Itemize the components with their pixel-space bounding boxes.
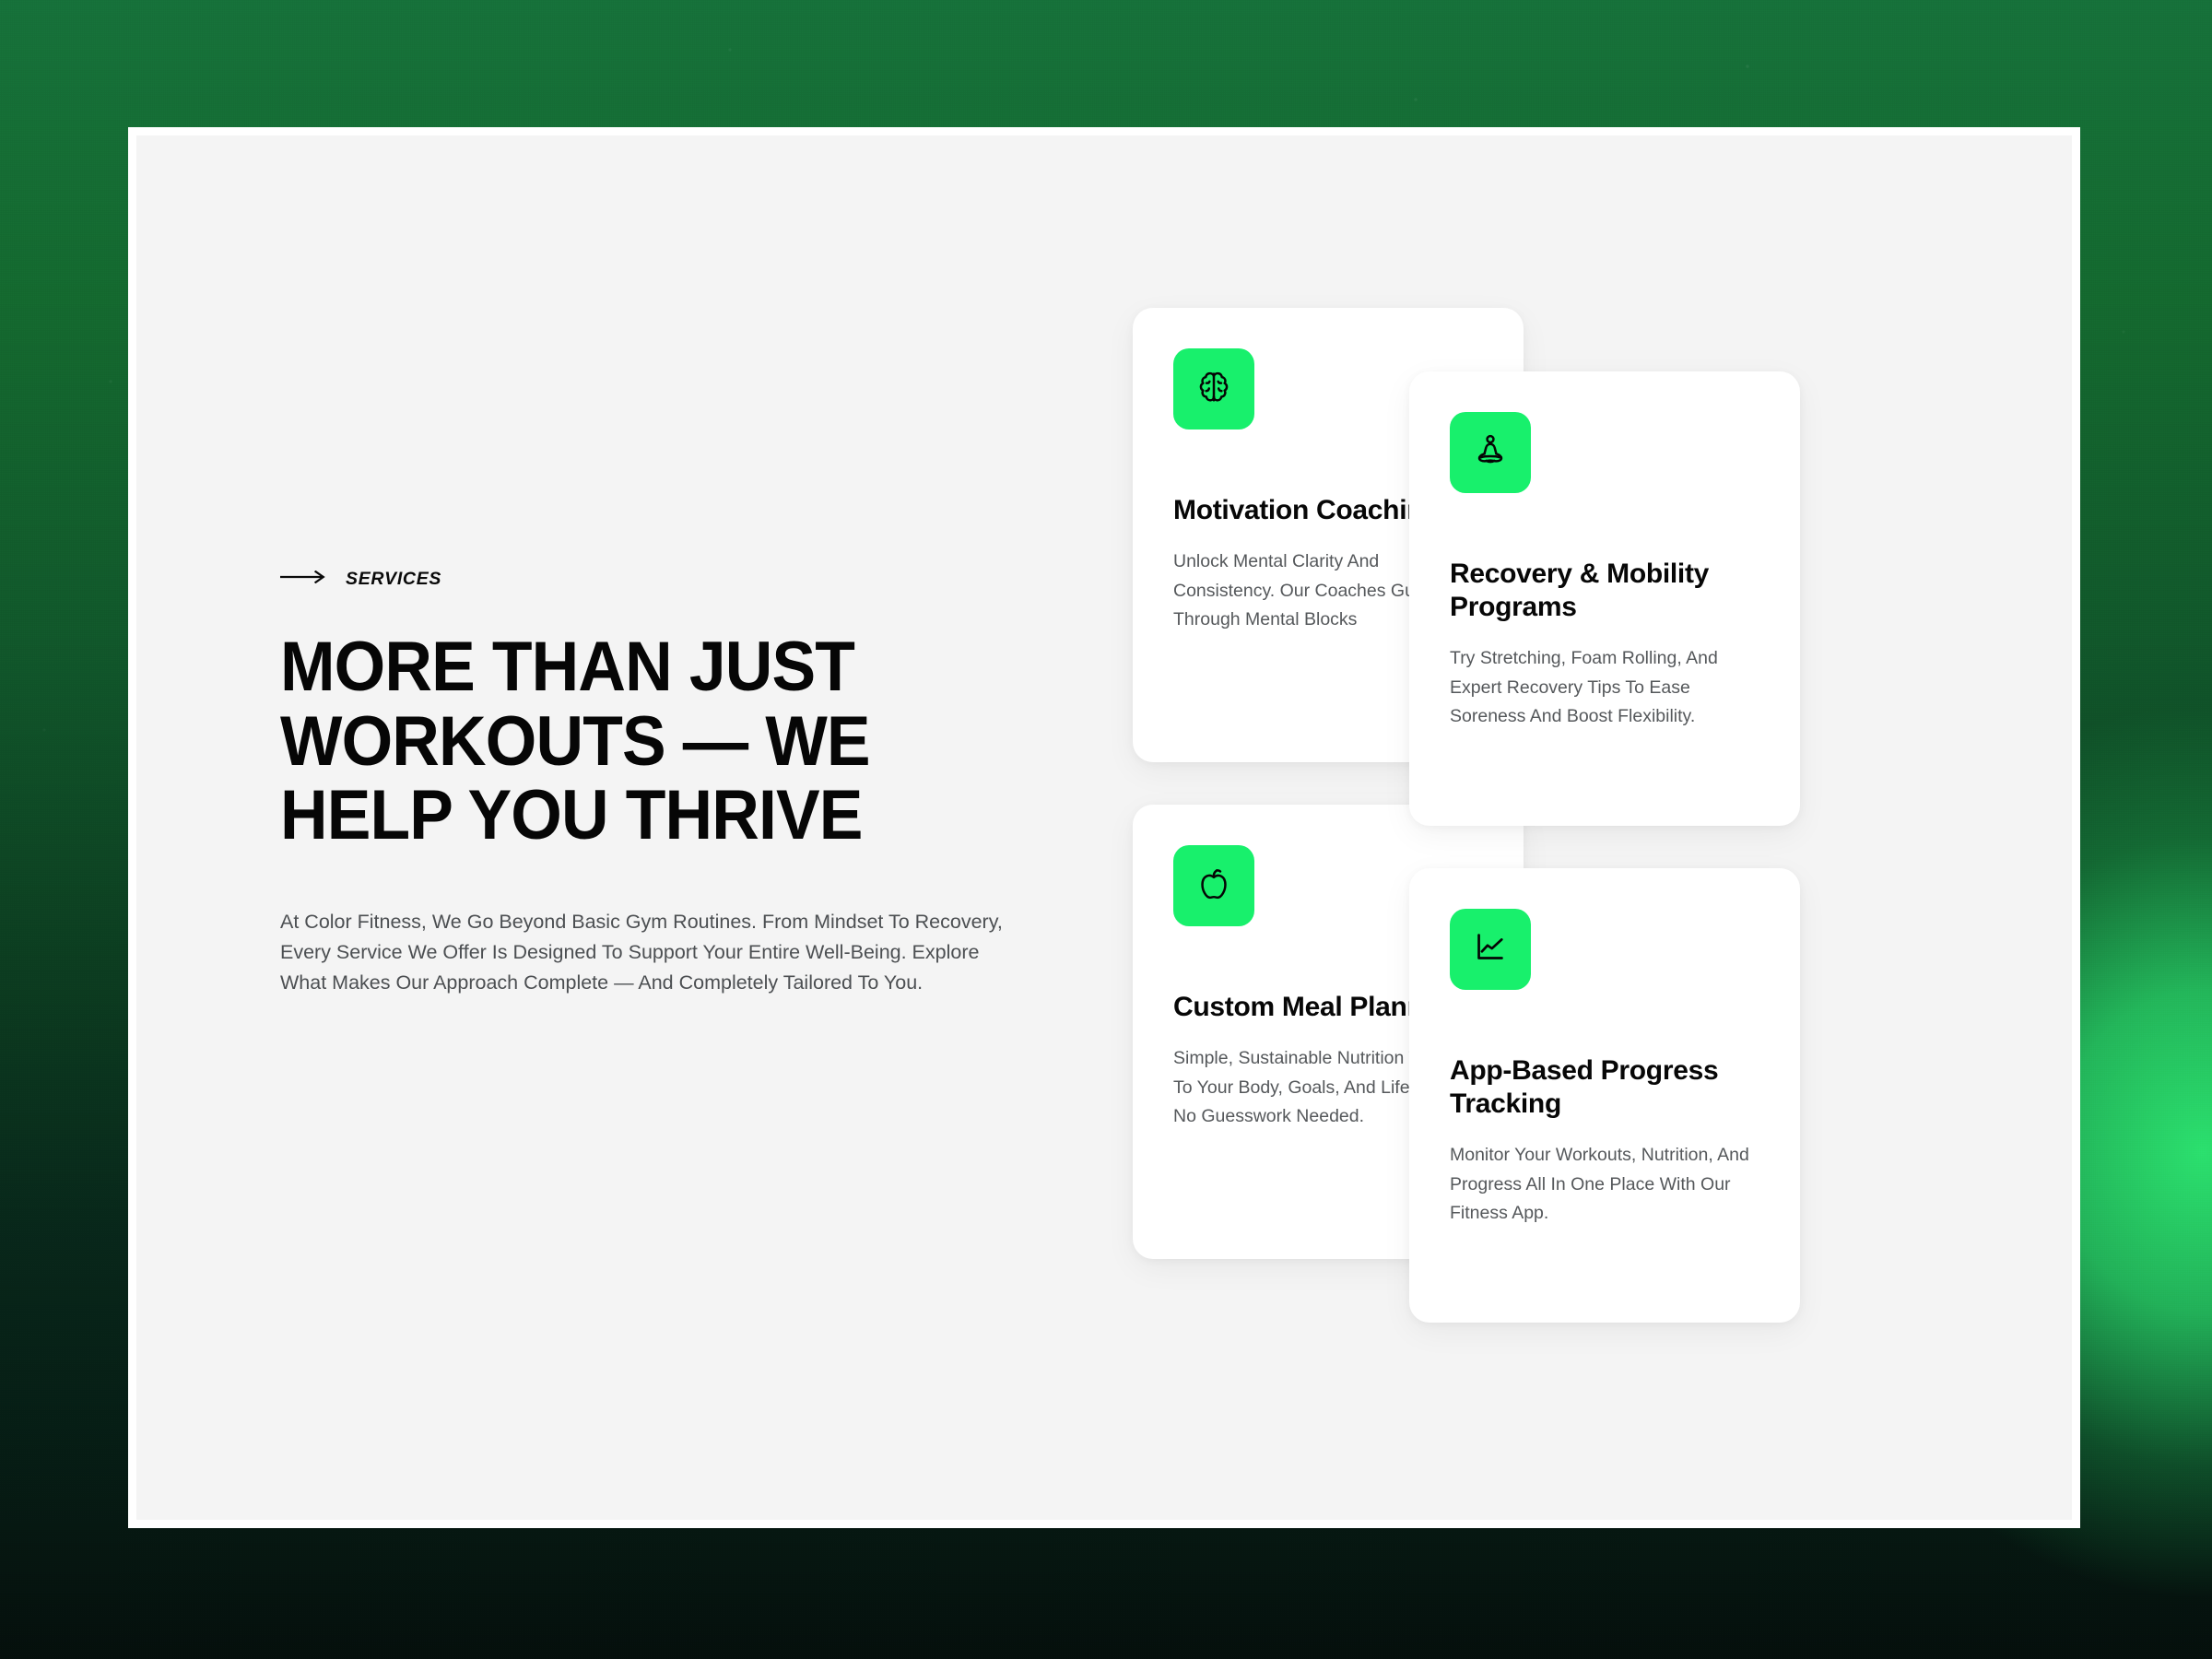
service-card-title: App-Based Progress Tracking [1450, 1054, 1758, 1121]
line-chart-icon [1469, 926, 1512, 973]
service-icon-tile [1173, 348, 1254, 429]
arrow-right-icon [280, 571, 326, 588]
page-title: MORE THAN JUST WORKOUTS — WE HELP YOU TH… [280, 630, 973, 853]
section-intro-column: SERVICES MORE THAN JUST WORKOUTS — WE HE… [280, 569, 1018, 999]
section-eyebrow: SERVICES [280, 569, 1018, 590]
brain-icon [1193, 366, 1235, 413]
section-eyebrow-label: SERVICES [346, 569, 441, 590]
content-panel: SERVICES MORE THAN JUST WORKOUTS — WE HE… [136, 135, 2072, 1520]
content-panel-frame: SERVICES MORE THAN JUST WORKOUTS — WE HE… [128, 127, 2080, 1528]
service-card-app-based-progress-tracking[interactable]: App-Based Progress Tracking Monitor Your… [1409, 868, 1800, 1323]
service-icon-tile [1173, 845, 1254, 926]
service-card-recovery-mobility[interactable]: Recovery & Mobility Programs Try Stretch… [1409, 371, 1800, 826]
service-icon-tile [1450, 909, 1531, 990]
service-icon-tile [1450, 412, 1531, 493]
section-intro-paragraph: At Color Fitness, We Go Beyond Basic Gym… [280, 907, 1008, 999]
apple-icon [1193, 863, 1235, 910]
service-card-title: Recovery & Mobility Programs [1450, 558, 1758, 624]
meditation-lotus-icon [1469, 429, 1512, 477]
service-card-description: Monitor Your Workouts, Nutrition, And Pr… [1450, 1141, 1758, 1229]
service-card-description: Try Stretching, Foam Rolling, And Expert… [1450, 644, 1758, 732]
